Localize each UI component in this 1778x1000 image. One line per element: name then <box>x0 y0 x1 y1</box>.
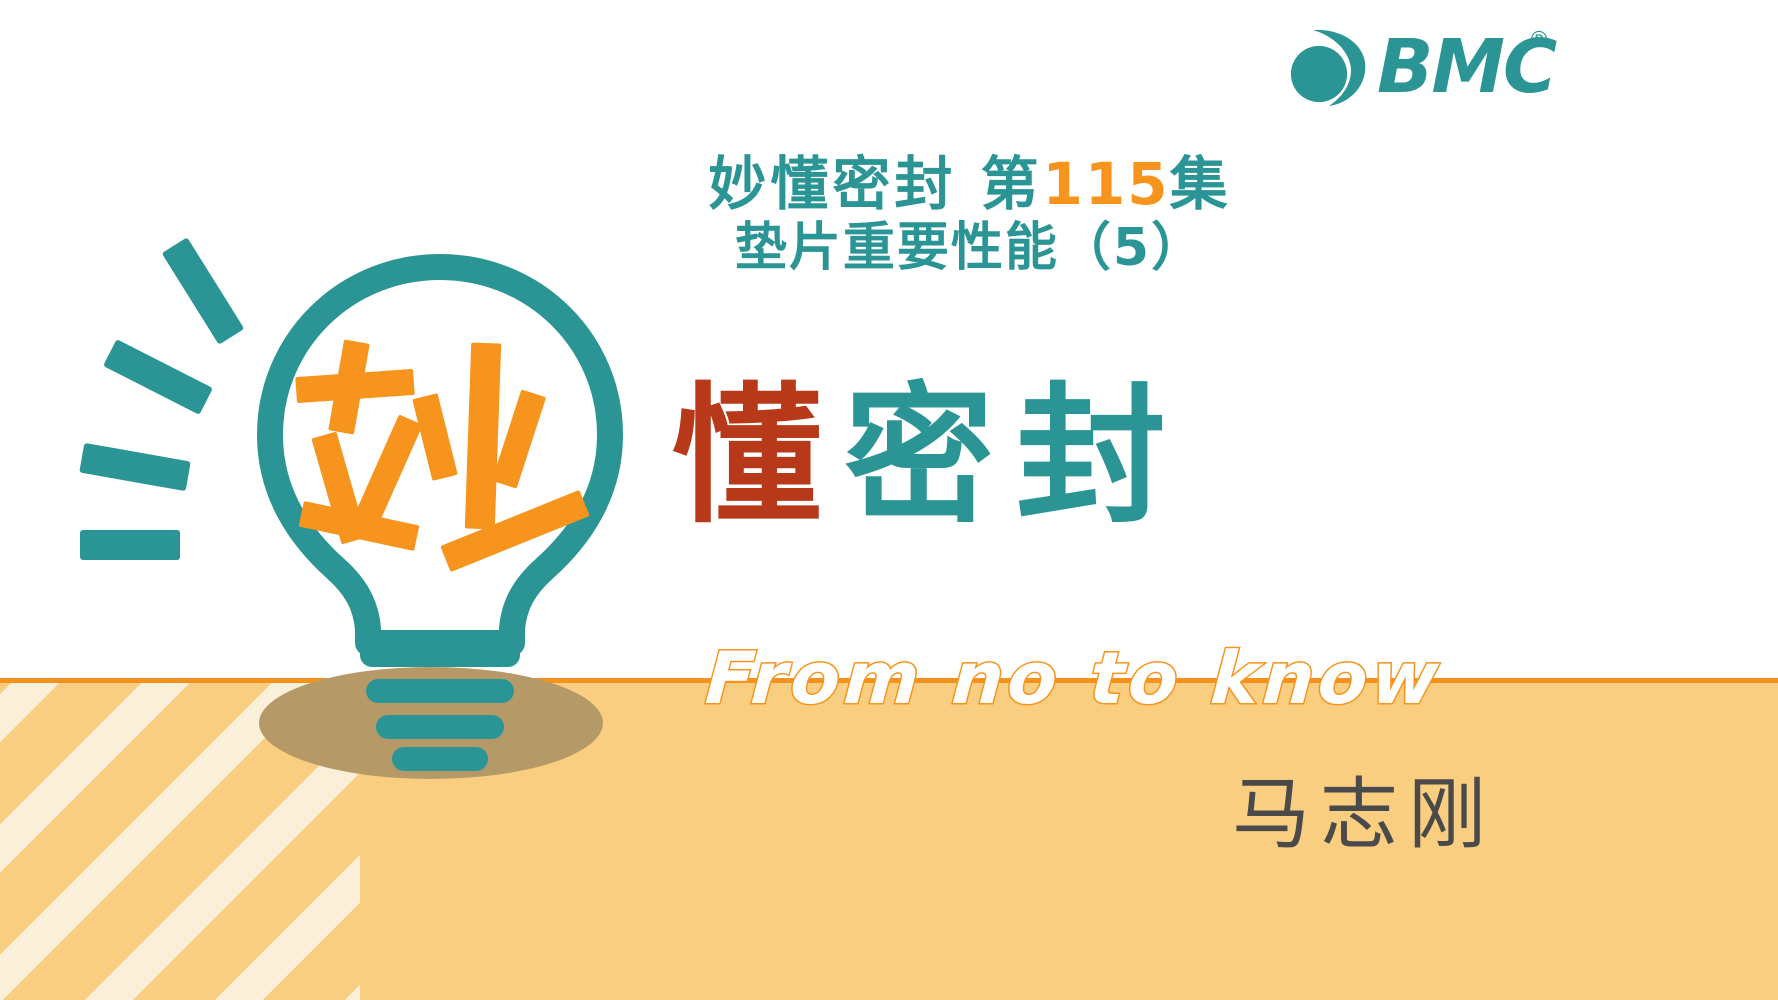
page-title: 懂密封 <box>672 382 1188 532</box>
light-rays-icon <box>79 237 244 560</box>
headline-chars-mifeng: 密封 <box>844 370 1188 544</box>
lightbulb-icon <box>150 245 730 805</box>
episode-title-line: 妙懂密封 第115集 <box>560 152 1380 217</box>
registered-trademark-icon: ® <box>1528 30 1550 52</box>
bmc-leaf-circle-icon <box>1285 22 1371 108</box>
tagline: From no to know <box>703 636 1445 720</box>
author-name: 马志刚 <box>1232 752 1496 864</box>
episode-title-suffix: 集 <box>1170 150 1232 218</box>
episode-number: 115 <box>1043 150 1170 218</box>
episode-title-prefix: 妙懂密封 第 <box>708 150 1042 218</box>
poster-canvas: BMC ® 妙懂密封 第115集 垫片重要性能（5） 懂密封 From no t… <box>0 0 1778 1000</box>
bmc-logo[interactable]: BMC ® <box>1285 16 1545 112</box>
